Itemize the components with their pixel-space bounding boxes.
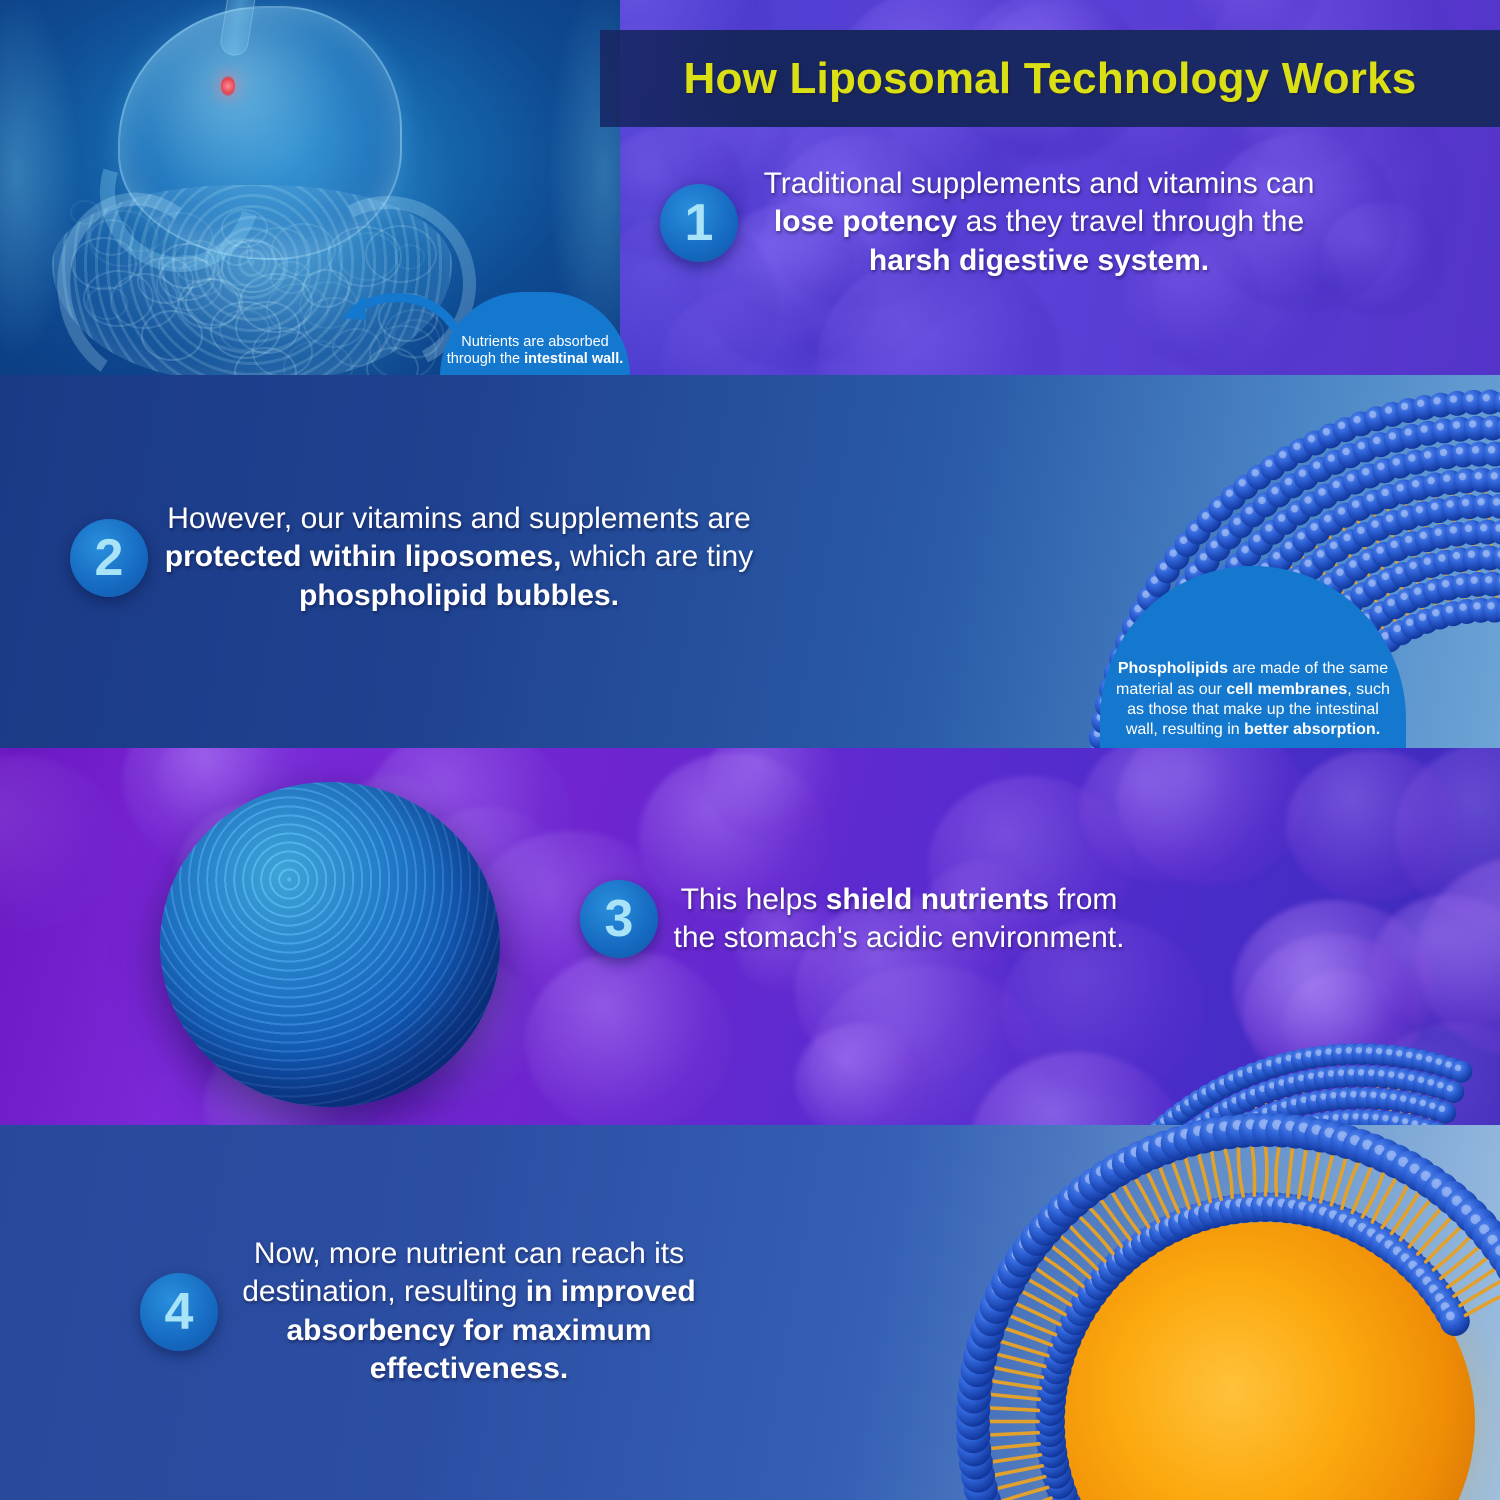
step-2-text: However, our vitamins and supplements ar… — [148, 500, 770, 615]
step-4: 4 Now, more nutrient can reach its desti… — [140, 1235, 720, 1389]
step-2-badge: 2 — [70, 519, 148, 597]
step-1-badge: 1 — [660, 184, 738, 262]
step-4-badge: 4 — [140, 1273, 218, 1351]
step-3: 3 This helps shield nutrients from the s… — [580, 880, 1140, 958]
callout-phospholipids-text: Phospholipids are made of the same mater… — [1114, 659, 1392, 740]
title-bar: How Liposomal Technology Works — [600, 30, 1500, 127]
infographic-root: How Liposomal Technology Works Nutrients… — [0, 0, 1500, 1500]
band-step-1: How Liposomal Technology Works Nutrients… — [0, 0, 1500, 375]
step-1-text: Traditional supplements and vitamins can… — [738, 165, 1340, 280]
step-4-text: Now, more nutrient can reach its destina… — [218, 1235, 720, 1389]
step-2: 2 However, our vitamins and supplements … — [70, 500, 770, 615]
page-title: How Liposomal Technology Works — [684, 54, 1417, 104]
step-1: 1 Traditional supplements and vitamins c… — [660, 165, 1340, 280]
step-3-text: This helps shield nutrients from the sto… — [658, 881, 1140, 958]
liposome-cross-section-illustration — [810, 1010, 1500, 1500]
step-3-badge: 3 — [580, 880, 658, 958]
liposome-sphere — [160, 782, 500, 1107]
callout-intestinal-wall-text: Nutrients are absorbed through the intes… — [440, 334, 630, 369]
